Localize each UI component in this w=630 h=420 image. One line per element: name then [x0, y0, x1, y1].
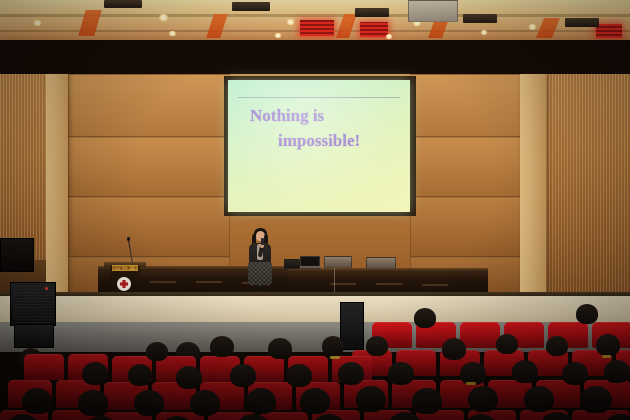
audience-head [268, 338, 292, 359]
ceiling-spotlight [33, 20, 42, 26]
ceiling-stripe [336, 14, 357, 38]
slide-line-2: impossible! [278, 131, 360, 151]
desk-equipment-box [324, 256, 352, 268]
audience-head [576, 304, 598, 324]
ceiling-speaker-box [355, 8, 389, 17]
ceiling-spotlight [480, 30, 488, 35]
ceiling-spotlight [385, 34, 393, 39]
ceiling-red-panel [300, 20, 334, 36]
wall-panel [410, 136, 522, 198]
audience-head [146, 342, 168, 361]
projector-screen: Nothing is impossible! [228, 80, 410, 212]
audience-collar [602, 355, 611, 358]
wall-panel [410, 196, 522, 258]
ceiling-speaker-box [565, 18, 599, 27]
podium-nameplate: 西安市曲江第一中学 [112, 265, 138, 271]
audience-collar [466, 382, 476, 385]
audience-head [596, 334, 620, 356]
audience-collar [330, 356, 340, 359]
desk-slot [196, 281, 222, 283]
wall-pillar [520, 74, 546, 302]
ceiling-speaker-box [104, 0, 142, 8]
audience-head [512, 360, 538, 383]
audience-head [366, 336, 388, 356]
handheld-microphone [261, 238, 264, 245]
audience-head [128, 364, 152, 386]
audience-head [22, 388, 52, 414]
audience-head [562, 362, 588, 385]
ceiling-speaker-box [232, 2, 270, 11]
wall-panel [68, 136, 230, 198]
audience-head [414, 308, 436, 328]
slide-line-1: Nothing is [250, 106, 324, 126]
ceiling-vent [408, 0, 458, 22]
desk-slot [422, 284, 448, 286]
audience-head [356, 386, 386, 412]
ceiling-spotlight [286, 19, 295, 25]
wall-ribbed-panel [546, 74, 630, 302]
audience-head [388, 362, 414, 385]
wall-speaker [0, 238, 34, 272]
ceiling-spotlight [168, 31, 177, 36]
ceiling-spotlight [528, 24, 537, 30]
ceiling-speaker-box [463, 14, 497, 23]
audience-head [524, 386, 554, 412]
audience-head [78, 390, 108, 416]
ceiling-stripe [536, 18, 560, 38]
audience-head [412, 388, 442, 414]
audience-head [300, 388, 330, 414]
audience-head [468, 386, 498, 412]
presenter-dress [248, 262, 272, 286]
slide-divider [238, 97, 400, 98]
audience-head [496, 334, 518, 354]
school-emblem [117, 277, 131, 291]
audience-head [82, 362, 108, 385]
desk-device [284, 259, 300, 269]
audience-head [134, 390, 164, 416]
wall-panel [410, 74, 522, 138]
lecture-hall-photo: Nothing is impossible! 西安市曲江第一中学 [0, 0, 630, 420]
ceiling-red-panel [596, 24, 622, 38]
podium-microphone-head [127, 237, 130, 241]
audience [0, 300, 630, 420]
desk-slot [376, 283, 402, 285]
emblem-glyph [120, 280, 128, 288]
desk-slot [150, 281, 176, 283]
ceiling-spotlight [274, 33, 282, 38]
audience-head [176, 366, 202, 389]
audience-head [442, 338, 466, 360]
laptop-base [297, 266, 321, 268]
seat [460, 322, 500, 348]
audience-head [322, 336, 344, 356]
desk-equipment-box [366, 257, 396, 269]
audience-head [230, 364, 256, 387]
ceiling-red-panel [360, 22, 388, 37]
ceiling-stripe [206, 14, 228, 38]
ceiling-spotlight [158, 14, 169, 21]
podium-nameplate-text: 西安市曲江第一中学 [112, 266, 138, 271]
audience-head [546, 336, 568, 356]
wall-panel [68, 74, 230, 138]
audience-head [580, 386, 612, 413]
audience-head [210, 336, 234, 357]
desk-cable [334, 268, 335, 294]
speaker-power-led [45, 287, 48, 290]
audience-head [604, 360, 630, 383]
audience-head [246, 388, 276, 414]
wall-panel [68, 196, 230, 258]
ceiling [0, 0, 630, 40]
audience-head [286, 364, 312, 387]
seat [24, 354, 64, 380]
wall-pillar [46, 74, 68, 302]
audience-head [338, 362, 364, 385]
audience-head [190, 390, 220, 416]
